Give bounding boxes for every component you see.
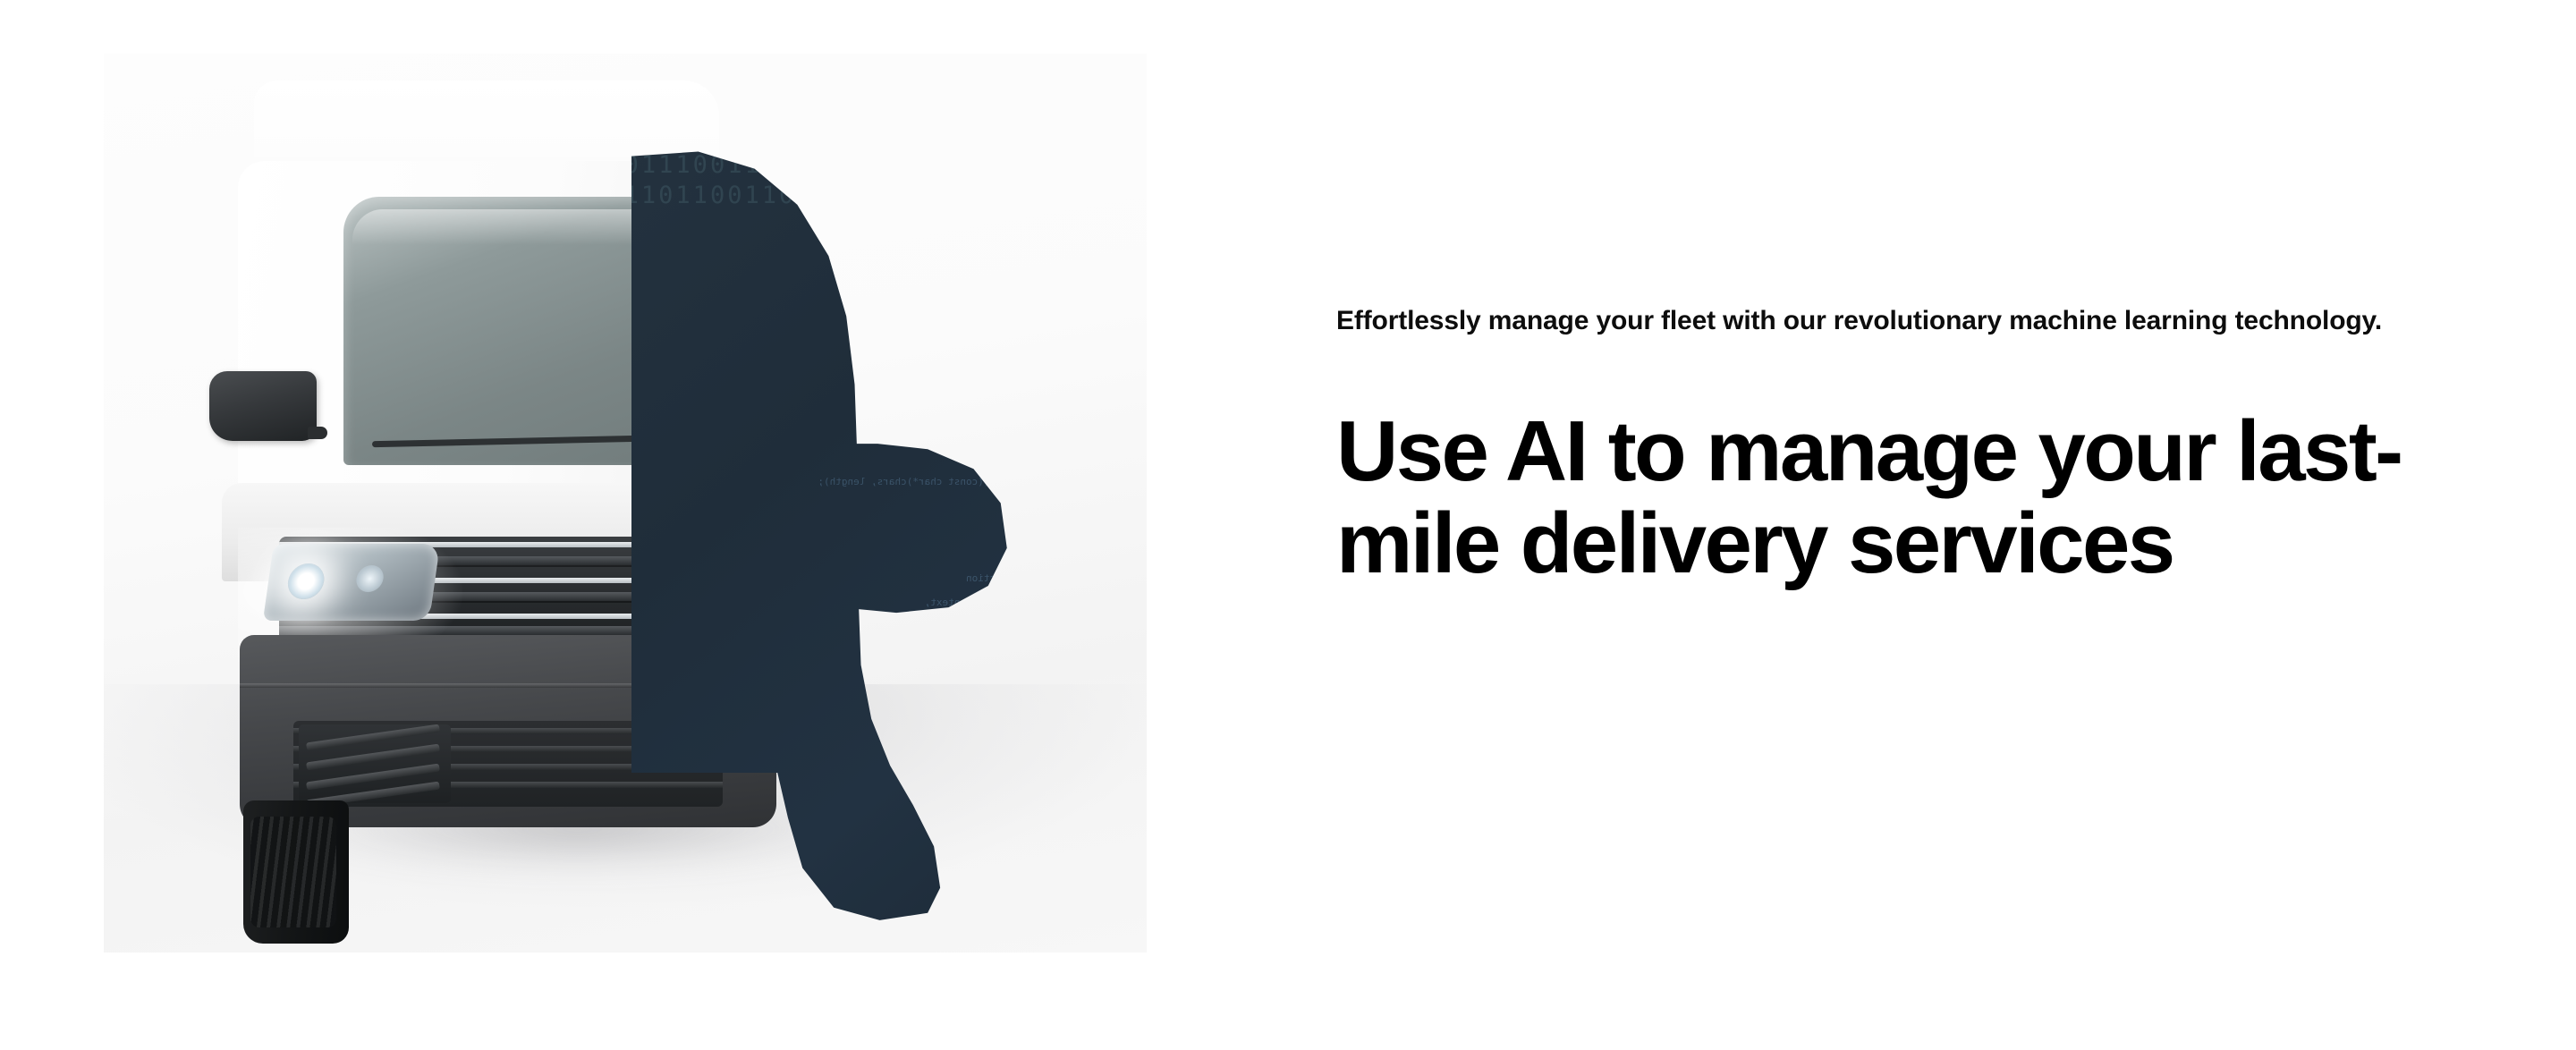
van-windshield <box>343 197 764 465</box>
headlight-bulb-primary <box>285 563 326 599</box>
van-fog-lamp-vent <box>299 724 451 803</box>
hero-copy: Effortlessly manage your fleet with our … <box>1336 302 2428 590</box>
van-front-bumper <box>240 635 776 827</box>
van-left-mirror <box>209 371 317 441</box>
van-lower-grille <box>293 721 723 807</box>
hero-eyebrow: Effortlessly manage your fleet with our … <box>1336 302 2392 341</box>
headlight-bulb-secondary <box>354 565 385 592</box>
hero-section: 0011100011110110100110100100110001011000… <box>0 0 2576 1050</box>
hero-image: 0011100011110110100110100100110001011000… <box>104 54 1147 953</box>
van-front-left-wheel <box>243 800 349 944</box>
page-title: Use AI to manage your last-mile delivery… <box>1336 405 2428 590</box>
van-headlight <box>263 544 440 621</box>
delivery-van-illustration <box>104 54 1147 953</box>
